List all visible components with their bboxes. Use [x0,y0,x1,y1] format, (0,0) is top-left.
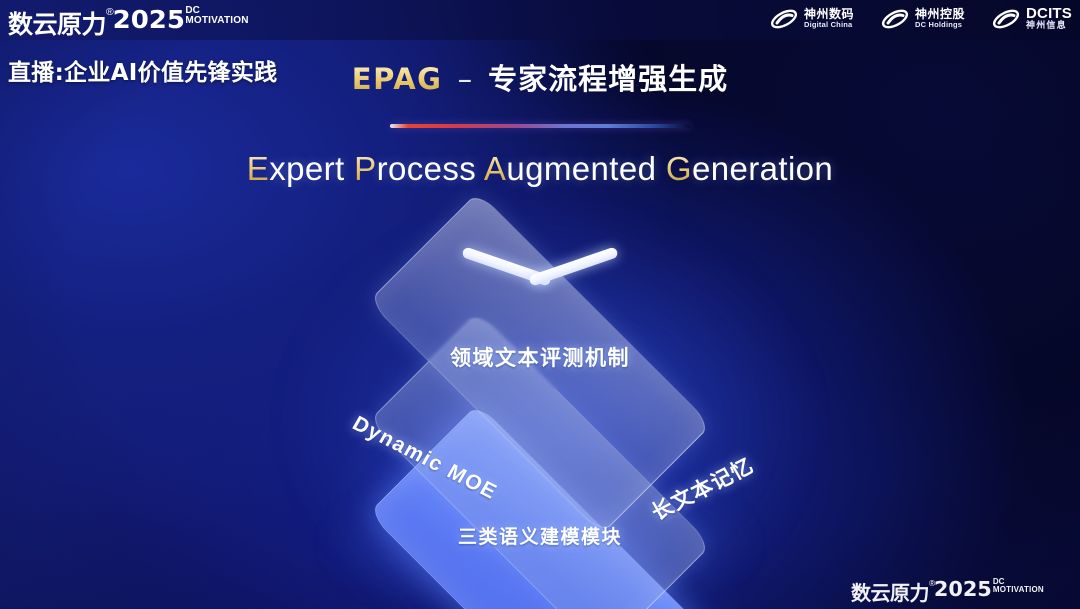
partner-text-block: 神州控股 DC Holdings [915,8,965,29]
partner-logo-dcits: DCITS 神州信息 [991,6,1072,32]
partner-name-cn: 神州信息 [1026,22,1072,32]
partner-text-block: 神州数码 Digital China [804,8,854,29]
partner-name-en: DCITS [1026,6,1072,22]
swirl-logo-icon [769,7,799,31]
swirl-logo-icon [991,7,1021,31]
partner-name-en: Digital China [804,21,854,29]
brand-motivation-text: MOTIVATION [993,586,1044,594]
brand-name-cn: 数云原力 [851,577,929,606]
partner-logo-dc-holdings: 神州控股 DC Holdings [880,7,965,31]
partner-name-en: DC Holdings [915,21,965,29]
brand-logo-bottom: 数云原力 ® 2025 DC MOTIVATION [851,577,1044,606]
title-acronym: EPAG [352,62,443,96]
brand-logo-top: 数云原力 ® 2025 DC MOTIVATION [8,5,249,41]
layer-stack-diagram: 领域文本评测机制 Dynamic MOE 长文本记忆 三类语义建模模块 [290,222,790,572]
subtitle-segment-5: ugmented [506,150,666,187]
partner-text-block: DCITS 神州信息 [1026,6,1072,32]
subtitle-segment-2: P [354,150,376,187]
title-divider-rule [390,124,690,128]
partner-logo-digital-china: 神州数码 Digital China [769,7,854,31]
subtitle-segment-0: E [247,150,269,187]
title-dash: – [454,62,478,96]
partner-logo-group: 神州数码 Digital China 神州控股 DC Holdings DCIT… [769,6,1072,32]
subtitle-segment-3: rocess [377,150,484,187]
page-title: EPAG – 专家流程增强生成 [0,56,1080,98]
layer-top-surface [368,191,711,534]
title-chinese: 专家流程增强生成 [488,62,728,96]
layer-top[interactable] [375,198,705,528]
swirl-logo-icon [880,7,910,31]
subtitle-segment-6: G [666,150,692,187]
brand-year: 2025 [112,5,184,34]
subtitle-segment-4: A [484,150,506,187]
subtitle-segment-1: xpert [269,150,354,187]
brand-name-cn: 数云原力 [8,5,106,41]
brand-dc-motivation: DC MOTIVATION [993,578,1044,594]
brand-year: 2025 [934,577,992,601]
brand-dc-motivation: DC MOTIVATION [185,6,248,26]
brand-motivation-text: MOTIVATION [185,16,248,26]
page-subtitle: Expert Process Augmented Generation [0,150,1080,188]
slide-canvas: 数云原力 ® 2025 DC MOTIVATION 直播:企业AI价值先锋实践 … [0,0,1080,609]
subtitle-segment-7: eneration [692,150,833,187]
